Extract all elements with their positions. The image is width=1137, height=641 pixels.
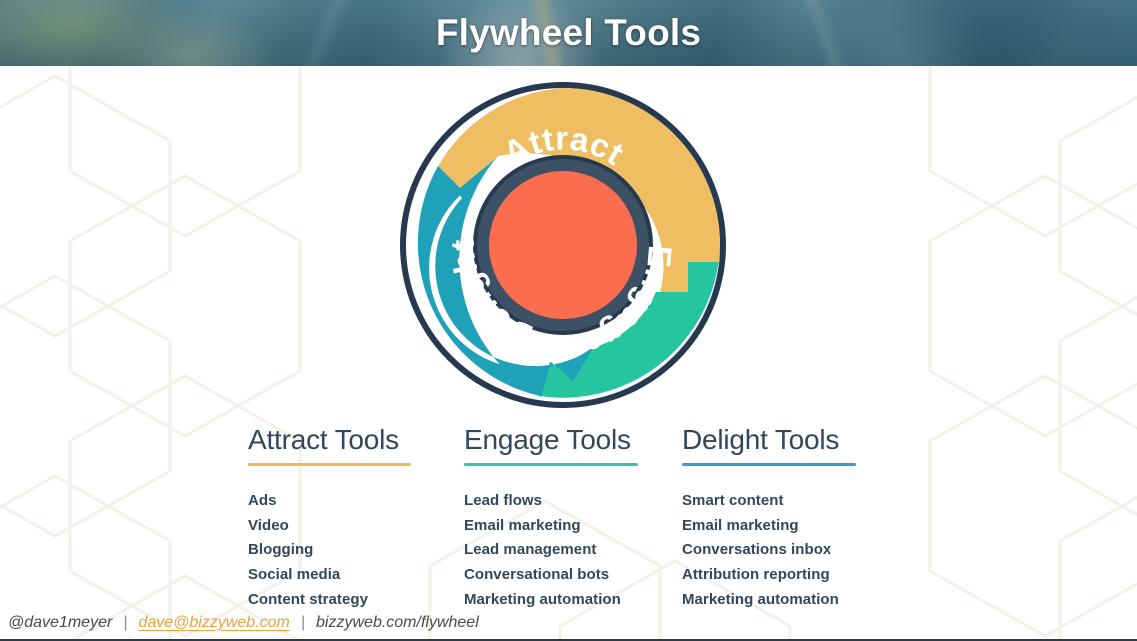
- list-item: Video: [248, 514, 464, 539]
- page-title: Flywheel Tools: [0, 0, 1137, 66]
- footer-website-url: bizzyweb.com/flywheel: [316, 614, 479, 632]
- column-accent-rule-attract: [248, 463, 411, 466]
- footer-separator-1: |: [112, 614, 138, 632]
- list-item: Smart content: [682, 489, 902, 514]
- column-heading-engage: Engage Tools: [464, 423, 682, 457]
- footer-twitter-handle: @dave1meyer: [8, 614, 112, 632]
- list-item: Lead management: [464, 538, 682, 563]
- footer-content: @dave1meyer | dave@bizzyweb.com | bizzyw…: [0, 614, 479, 632]
- header-banner: Flywheel Tools: [0, 0, 1137, 66]
- column-heading-delight: Delight Tools: [682, 423, 902, 457]
- column-accent-rule-delight: [682, 463, 856, 466]
- column-delight-tools: Delight Tools Smart content Email market…: [682, 423, 902, 608]
- list-item: Attribution reporting: [682, 563, 902, 588]
- footer-email-link[interactable]: dave@bizzyweb.com: [138, 614, 289, 632]
- slide-canvas: Flywheel Tools: [0, 0, 1137, 641]
- tool-list-engage: Lead flows Email marketing Lead manageme…: [464, 489, 682, 613]
- tool-list-delight: Smart content Email marketing Conversati…: [682, 489, 902, 613]
- column-attract-tools: Attract Tools Ads Video Blogging Social …: [248, 423, 464, 608]
- list-item: Email marketing: [682, 514, 902, 539]
- flywheel-hub: [489, 171, 637, 319]
- flywheel-diagram: Attract Engage Delight: [398, 80, 728, 410]
- column-heading-attract: Attract Tools: [248, 423, 464, 457]
- tools-columns: Attract Tools Ads Video Blogging Social …: [248, 423, 928, 608]
- list-item: Ads: [248, 489, 464, 514]
- list-item: Blogging: [248, 538, 464, 563]
- list-item: Social media: [248, 563, 464, 588]
- flywheel-svg: Attract Engage Delight: [398, 80, 728, 410]
- column-accent-rule-engage: [464, 463, 638, 466]
- slide-footer: @dave1meyer | dave@bizzyweb.com | bizzyw…: [0, 606, 1137, 641]
- list-item: Lead flows: [464, 489, 682, 514]
- list-item: Email marketing: [464, 514, 682, 539]
- tool-list-attract: Ads Video Blogging Social media Content …: [248, 489, 464, 613]
- column-engage-tools: Engage Tools Lead flows Email marketing …: [464, 423, 682, 608]
- footer-separator-2: |: [290, 614, 316, 632]
- list-item: Conversational bots: [464, 563, 682, 588]
- list-item: Conversations inbox: [682, 538, 902, 563]
